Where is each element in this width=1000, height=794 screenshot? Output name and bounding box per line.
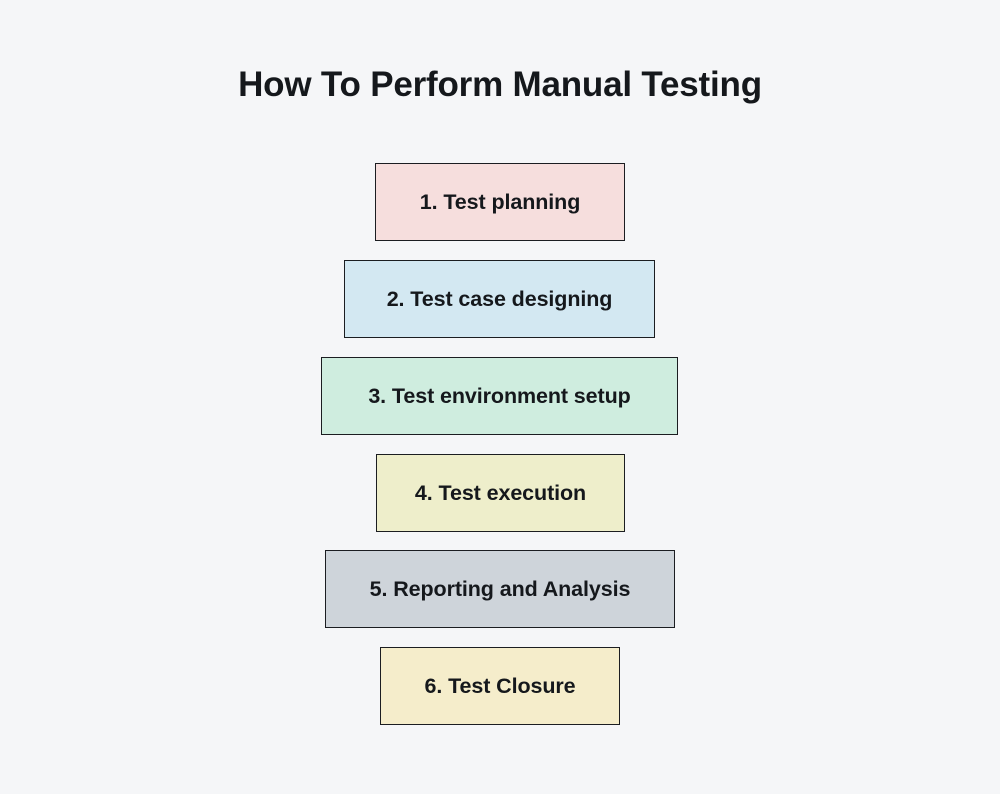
process-step-3-label: 3. Test environment setup <box>368 384 630 409</box>
process-step-2-label: 2. Test case designing <box>387 287 613 312</box>
process-step-5-label: 5. Reporting and Analysis <box>370 577 631 602</box>
page-title: How To Perform Manual Testing <box>0 66 1000 105</box>
process-step-5: 5. Reporting and Analysis <box>325 550 675 628</box>
process-step-1: 1. Test planning <box>375 163 625 241</box>
process-step-1-label: 1. Test planning <box>420 190 580 215</box>
process-step-2: 2. Test case designing <box>344 260 655 338</box>
process-step-4: 4. Test execution <box>376 454 625 532</box>
process-step-3: 3. Test environment setup <box>321 357 678 435</box>
process-step-6: 6. Test Closure <box>380 647 620 725</box>
process-step-4-label: 4. Test execution <box>415 481 586 506</box>
manual-testing-process-diagram: How To Perform Manual Testing 1. Test pl… <box>0 0 1000 794</box>
process-step-6-label: 6. Test Closure <box>424 674 575 699</box>
